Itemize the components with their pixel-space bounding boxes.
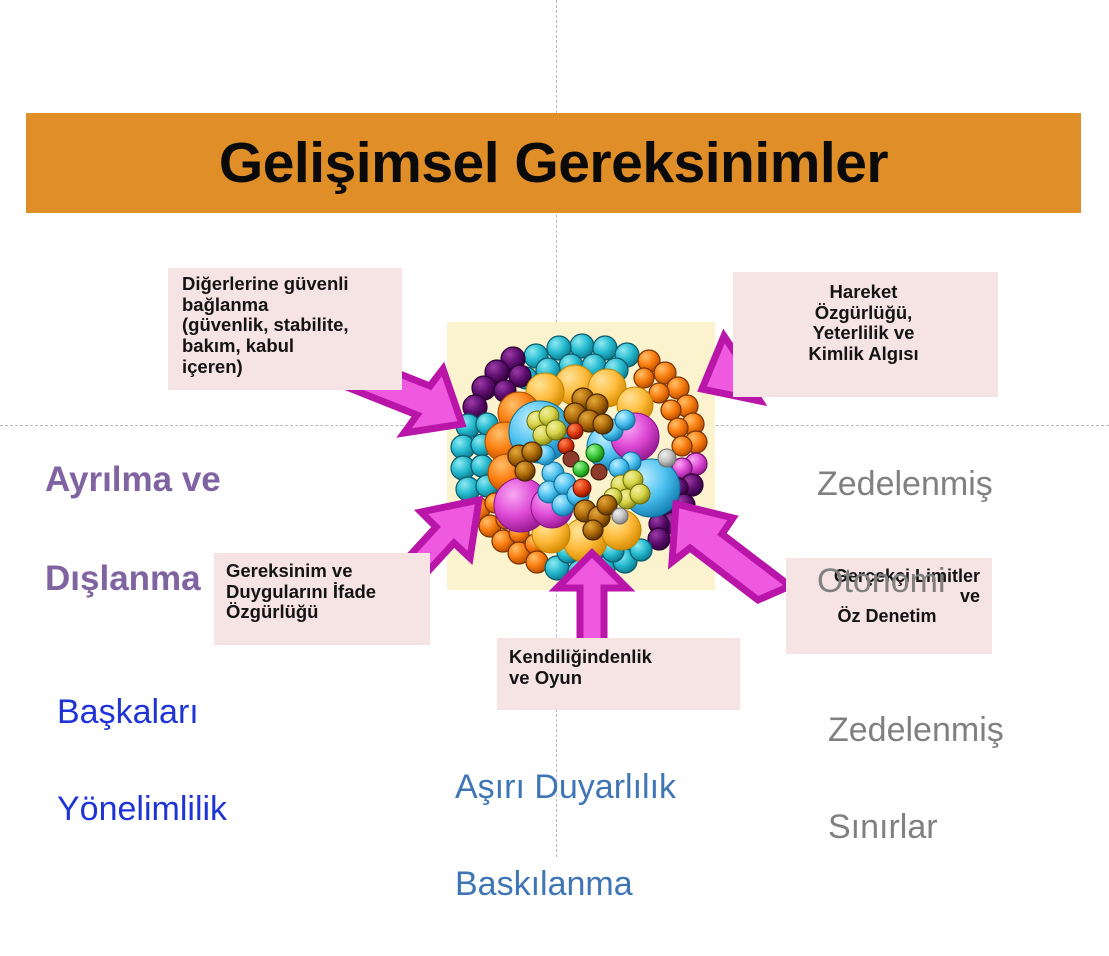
- callout-line: bakım, kabul: [182, 336, 394, 357]
- domain-label-line: Zedelenmiş: [817, 460, 993, 508]
- callout-line: ve Oyun: [509, 668, 732, 689]
- callout-line: Özgürlüğü: [226, 602, 422, 623]
- domain-label-line: Zedelenmiş: [828, 706, 1004, 754]
- domain-label-line: Yönelimlilik: [57, 785, 227, 833]
- callout-line: bağlanma: [182, 295, 394, 316]
- domain-label-disconnection-rejection: Ayrılma ve Dışlanma: [45, 405, 221, 653]
- domain-label-line: Başkaları: [57, 688, 227, 736]
- domain-label-impaired-autonomy: Zedelenmiş Otonomi: [817, 412, 993, 653]
- domain-label-line: Ayrılma ve: [45, 455, 221, 505]
- callout-line: Kimlik Algısı: [743, 344, 984, 365]
- callout-line: Diğerlerine güvenli: [182, 274, 394, 295]
- callout-line: Yeterlilik ve: [743, 323, 984, 344]
- callout-expression-freedom: Gereksinim ve Duygularını İfade Özgürlüğ…: [214, 553, 430, 645]
- domain-label-overvigilance-inhibition: Aşırı Duyarlılık Baskılanma: [455, 715, 676, 956]
- page-title: Gelişimsel Gereksinimler: [219, 135, 888, 192]
- domain-label-line: Aşırı Duyarlılık: [455, 763, 676, 811]
- callout-line: Kendiliğindenlik: [509, 647, 732, 668]
- domain-label-line: Otonomi: [817, 557, 993, 605]
- callout-secure-attachment: Diğerlerine güvenli bağlanma (güvenlik, …: [168, 268, 402, 390]
- domain-label-line: Dışlanma: [45, 554, 221, 604]
- domain-label-impaired-limits: Zedelenmiş Sınırlar: [828, 658, 1004, 899]
- domain-label-line: Baskılanma: [455, 860, 676, 908]
- domain-label-other-directedness: Başkaları Yönelimlilik: [57, 640, 227, 881]
- molecular-sphere-cluster-image: [435, 325, 730, 590]
- callout-spontaneity-play: Kendiliğindenlik ve Oyun: [497, 638, 740, 710]
- callout-line: Hareket: [743, 282, 984, 303]
- callout-line: içeren): [182, 357, 394, 378]
- callout-line: Özgürlüğü,: [743, 303, 984, 324]
- callout-line: Gereksinim ve: [226, 561, 422, 582]
- callout-autonomy-competence: Hareket Özgürlüğü, Yeterlilik ve Kimlik …: [733, 272, 998, 397]
- title-banner: Gelişimsel Gereksinimler: [26, 113, 1081, 213]
- domain-label-line: Sınırlar: [828, 803, 1004, 851]
- callout-line: (güvenlik, stabilite,: [182, 315, 394, 336]
- callout-line: Duygularını İfade: [226, 582, 422, 603]
